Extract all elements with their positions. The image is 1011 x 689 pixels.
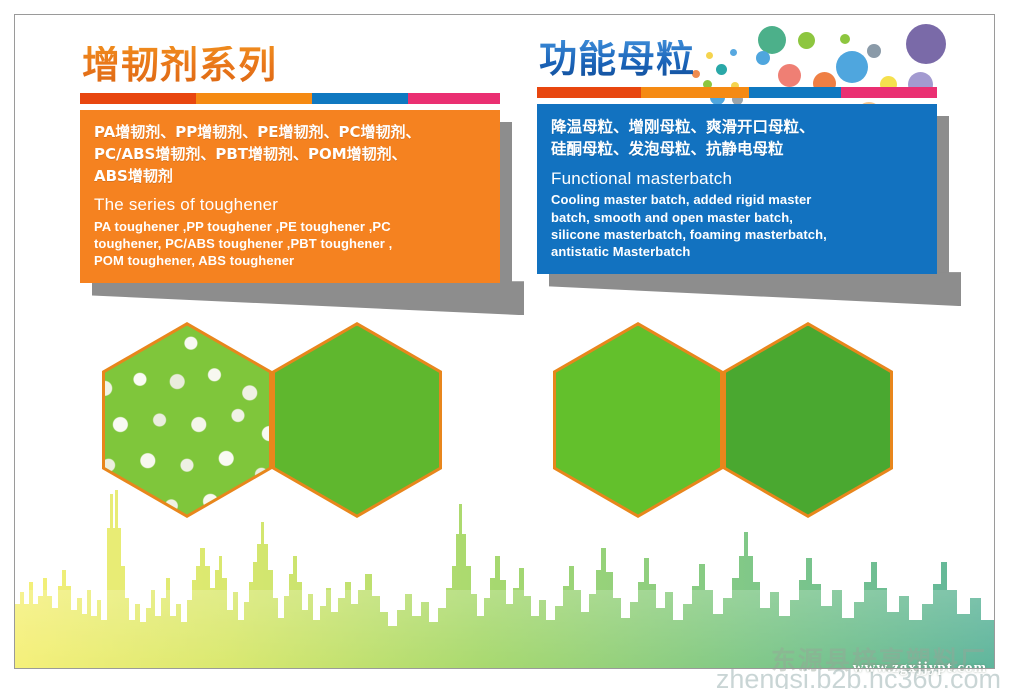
color-bar-segment-blue <box>749 87 841 98</box>
masterbatch-color-bar <box>537 87 937 98</box>
color-bar-segment-orange <box>196 93 312 104</box>
masterbatch-en-line-3: silicone masterbatch, foaming masterbatc… <box>551 226 923 243</box>
pellet-texture <box>556 326 720 515</box>
pellet-texture <box>105 326 269 515</box>
color-bar-segment-blue <box>312 93 408 104</box>
masterbatch-en-line-1: Cooling master batch, added rigid master <box>551 191 923 208</box>
toughener-en-line-3: POM toughener, ABS toughener <box>94 252 486 269</box>
color-bar-segment-pink <box>408 93 500 104</box>
masterbatch-en-heading: Functional masterbatch <box>551 166 923 192</box>
watermark-url: www.zgxjjypt.com <box>853 660 987 677</box>
masterbatch-textbox: 降温母粒、增刚母粒、爽滑开口母粒、 硅酮母粒、发泡母粒、抗静电母粒 Functi… <box>537 104 937 274</box>
hex-masterbatch-green <box>553 322 723 518</box>
color-bar-segment-red-orange <box>80 93 196 104</box>
toughener-cn-line-2: PC/ABS增韧剂、PBT增韧剂、POM增韧剂、 <box>94 144 486 166</box>
pellet-texture <box>275 326 439 515</box>
toughener-shadow-tail <box>92 281 524 315</box>
hex-photo <box>556 326 720 515</box>
toughener-textbox-wrap: PA增韧剂、PP增韧剂、PE增韧剂、PC增韧剂、 PC/ABS增韧剂、PBT增韧… <box>80 110 500 283</box>
toughener-panel: 增韧剂系列 PA增韧剂、PP增韧剂、PE增韧剂、PC增韧剂、 PC/ABS增韧剂… <box>80 46 500 283</box>
color-bar-segment-pink <box>841 87 937 98</box>
hex-photo <box>105 326 269 515</box>
masterbatch-textbox-wrap: 降温母粒、增刚母粒、爽滑开口母粒、 硅酮母粒、发泡母粒、抗静电母粒 Functi… <box>537 104 937 274</box>
toughener-color-bar <box>80 93 500 104</box>
masterbatch-panel: 功能母粒 降温母粒、增刚母粒、爽滑开口母粒、 硅酮母粒、发泡母粒、抗静电母粒 F… <box>537 40 937 274</box>
hex-masterbatch-grey <box>723 322 893 518</box>
hex-photo <box>275 326 439 515</box>
toughener-en-heading: The series of toughener <box>94 192 486 218</box>
masterbatch-title: 功能母粒 <box>539 40 937 78</box>
toughener-en-line-2: toughener, PC/ABS toughener ,PBT toughen… <box>94 235 486 252</box>
pellet-texture <box>726 326 890 515</box>
color-bar-segment-red-orange <box>537 87 641 98</box>
toughener-en-line-1: PA toughener ,PP toughener ,PE toughener… <box>94 218 486 235</box>
hex-toughener-white-pellets <box>102 322 272 518</box>
masterbatch-cn-line-1: 降温母粒、增刚母粒、爽滑开口母粒、 <box>551 116 923 138</box>
masterbatch-en-line-2: batch, smooth and open master batch, <box>551 209 923 226</box>
toughener-cn-line-3: ABS增韧剂 <box>94 166 486 188</box>
color-bar-segment-orange <box>641 87 749 98</box>
masterbatch-shadow-tail <box>549 272 961 306</box>
hex-photo <box>726 326 890 515</box>
toughener-title: 增韧剂系列 <box>82 46 500 84</box>
masterbatch-cn-line-2: 硅酮母粒、发泡母粒、抗静电母粒 <box>551 138 923 160</box>
hex-toughener-white-chunks <box>272 322 442 518</box>
masterbatch-en-line-4: antistatic Masterbatch <box>551 243 923 260</box>
toughener-textbox: PA增韧剂、PP增韧剂、PE增韧剂、PC增韧剂、 PC/ABS增韧剂、PBT增韧… <box>80 110 500 283</box>
toughener-cn-line-1: PA增韧剂、PP增韧剂、PE增韧剂、PC增韧剂、 <box>94 122 486 144</box>
poster-page: 增韧剂系列 PA增韧剂、PP增韧剂、PE增韧剂、PC增韧剂、 PC/ABS增韧剂… <box>0 0 1011 689</box>
